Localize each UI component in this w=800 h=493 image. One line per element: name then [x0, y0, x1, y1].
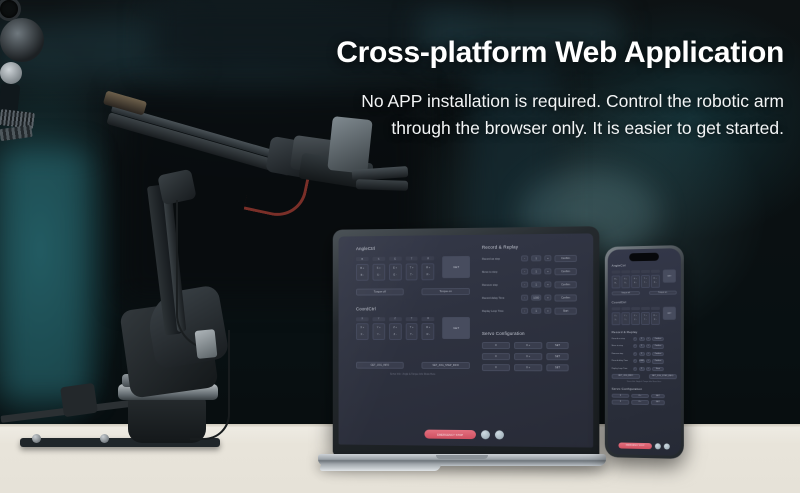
axis-stepper[interactable]: X + X - — [612, 312, 620, 325]
servo-set-button[interactable]: SET — [651, 400, 665, 405]
axis-label — [631, 307, 639, 310]
servo-value-button[interactable]: 0 + — [514, 341, 542, 348]
joint-label: T — [405, 256, 418, 260]
axis-plus-button[interactable]: Z + — [634, 315, 637, 317]
joint-plus-button[interactable]: T + — [410, 266, 414, 270]
jog-button-row: GET_JOG_INFO SET_JOG_STEP_INFO — [356, 362, 470, 369]
joint-minus-button[interactable]: E - — [634, 282, 637, 284]
torque-off-button[interactable]: Torque off — [612, 291, 640, 296]
arm-gripper-jaw — [356, 179, 408, 191]
axis-label: T — [405, 317, 418, 321]
joint-minus-button[interactable]: B - — [361, 273, 364, 277]
increment-button[interactable]: + — [646, 337, 650, 341]
arm-base-bolt — [100, 434, 109, 443]
phone-screen: AngleCtrl B + B - S + S - — [608, 248, 681, 456]
record-replay-row: Record delay Time - 1000 + Confirm — [482, 294, 587, 301]
bottom-action-bar: EMERGENCY STOP — [339, 429, 594, 441]
joint-minus-button[interactable]: B - — [615, 282, 617, 284]
joint-minus-button[interactable]: E - — [393, 273, 396, 277]
phone-bottom-bar: EMERGENCY STOP — [608, 442, 681, 450]
arm-base-bolt — [32, 434, 41, 443]
axis-control[interactable]: X X + X - — [356, 317, 368, 340]
laptop-front-notch — [436, 455, 488, 459]
circle-button-1[interactable] — [481, 430, 490, 439]
servo-config-grid: 0 0 + SET 0 0 + SET 0 0 + SET — [482, 341, 587, 370]
page-subheadline: No APP installation is required. Control… — [300, 88, 784, 141]
left-column: AngleCtrl B B + B - S S + — [356, 245, 470, 376]
row-label: Move to step — [612, 345, 632, 347]
axis-control[interactable]: T T + T - — [405, 317, 418, 340]
arm-sensor-box — [195, 329, 218, 359]
row-label: Remove step — [612, 353, 632, 355]
axis-plus-button[interactable]: R + — [426, 326, 430, 330]
joint-minus-button[interactable]: R - — [654, 282, 657, 284]
laptop-device: AngleCtrl B B + B - S S + — [318, 228, 606, 480]
servo-set-button[interactable]: SET — [546, 341, 568, 348]
axis-minus-button[interactable]: X - — [361, 333, 364, 337]
servo-id-button[interactable]: 0 — [482, 353, 510, 360]
circle-button-2[interactable] — [495, 430, 504, 439]
record-replay-row: Remove step - 1 + Confirm — [482, 281, 587, 288]
coord-ctrl-title: CoordCtrl — [356, 305, 470, 310]
increment-button[interactable]: + — [646, 367, 650, 371]
joint-stepper[interactable]: E + E - — [389, 263, 402, 280]
phone-jog-row: GET_JOG_INFO SET_JOG_STEP_INFO — [612, 374, 677, 379]
joint-stepper[interactable]: B + B - — [356, 263, 368, 280]
increment-button[interactable]: + — [544, 295, 551, 301]
servo-id-button[interactable]: 0 — [612, 400, 630, 405]
increment-button[interactable]: + — [646, 344, 650, 348]
joint-control[interactable]: T + T - — [641, 270, 649, 288]
axis-stepper[interactable]: R + R - — [651, 311, 659, 324]
value-field[interactable]: 1 — [531, 308, 541, 314]
axis-plus-button[interactable]: Y + — [377, 326, 381, 330]
laptop-foot — [319, 464, 442, 471]
joint-control[interactable]: B + B - — [612, 270, 620, 288]
axis-minus-button[interactable]: X - — [615, 319, 617, 321]
joint-label: R — [422, 256, 435, 260]
axis-control[interactable]: R R + R - — [422, 317, 435, 340]
angle-joint-row: B B + B - S S + S - — [356, 256, 470, 280]
row-label: Record delay Time — [612, 360, 632, 362]
circle-button-2[interactable] — [664, 443, 670, 449]
joint-plus-button[interactable]: R + — [426, 266, 430, 270]
phone-record-replay-title: Record & Replay — [612, 329, 677, 333]
servo-info-hint: Servo Info : Angle & Torque Info Show He… — [356, 373, 470, 376]
joint-control[interactable]: S S + S - — [372, 257, 385, 280]
axis-minus-button[interactable]: Y - — [624, 319, 626, 321]
axis-minus-button[interactable]: Z - — [394, 333, 397, 337]
record-replay-row: Move to step - 1 + Confirm — [612, 344, 677, 349]
set-jog-step-info-button[interactable]: SET_JOG_STEP_INFO — [421, 362, 470, 369]
axis-label — [651, 307, 659, 310]
joint-stepper[interactable]: E + E - — [631, 275, 639, 288]
axis-plus-button[interactable]: T + — [644, 315, 647, 317]
joint-label — [651, 270, 659, 273]
axis-stepper[interactable]: X + X - — [356, 323, 368, 340]
record-replay-title: Record & Replay — [482, 244, 587, 250]
emergency-stop-button[interactable]: EMERGENCY STOP — [618, 442, 651, 449]
axis-stepper[interactable]: T + T - — [405, 323, 418, 340]
joint-stepper[interactable]: R + R - — [651, 274, 659, 287]
axis-plus-button[interactable]: Z + — [393, 326, 397, 330]
axis-minus-button[interactable]: Y - — [377, 333, 380, 337]
arm-gripper-pad — [0, 125, 33, 141]
joint-plus-button[interactable]: R + — [654, 278, 657, 280]
increment-button[interactable]: + — [544, 308, 551, 314]
axis-label: Z — [389, 317, 402, 321]
axis-control[interactable]: Z Z + Z - — [389, 317, 402, 340]
joint-control[interactable]: T T + T - — [405, 256, 418, 279]
axis-label — [621, 307, 629, 310]
torque-on-button[interactable]: Torque on — [648, 290, 676, 295]
right-column: Record & Replay Record as step - 1 + Con… — [482, 244, 587, 371]
joint-plus-button[interactable]: E + — [393, 266, 397, 270]
arm-shoulder-hole — [0, 0, 18, 18]
value-field[interactable]: 1 — [639, 367, 645, 371]
servo-id-button[interactable]: 0 — [612, 393, 630, 398]
row-action-button[interactable]: Confirm — [652, 344, 664, 349]
joint-label: B — [356, 257, 368, 261]
laptop-lid: AngleCtrl B B + B - S S + — [333, 226, 600, 458]
axis-stepper[interactable]: Y + Y - — [621, 312, 629, 325]
axis-label: Y — [372, 317, 385, 321]
angle-get-button[interactable]: GET — [442, 256, 470, 278]
joint-plus-button[interactable]: E + — [634, 278, 637, 280]
value-field[interactable]: 1 — [639, 337, 645, 341]
row-action-button[interactable]: Confirm — [554, 268, 576, 275]
servo-config-title: Servo Configuration — [482, 330, 587, 335]
phone-coord-get-button[interactable]: GET — [663, 307, 676, 320]
servo-info-hint: Servo Info : Angle & Torque Info Show He… — [612, 380, 677, 382]
axis-stepper[interactable]: R + R - — [422, 323, 435, 340]
axis-plus-button[interactable]: X + — [614, 315, 617, 317]
axis-plus-button[interactable]: X + — [360, 326, 364, 330]
torque-on-button[interactable]: Torque on — [421, 287, 470, 294]
phone-device: AngleCtrl B + B - S + S - — [605, 245, 684, 459]
record-replay-row: Replay Loop Time - 1 + Start — [482, 308, 587, 315]
joint-control[interactable]: R R + R - — [422, 256, 435, 280]
phone-web-app-ui: AngleCtrl B + B - S + S - — [612, 262, 677, 405]
row-label: Replay Loop Time — [482, 310, 518, 313]
servo-id-button[interactable]: 0 — [482, 341, 510, 348]
record-replay-row: Remove step - 1 + Confirm — [612, 351, 677, 356]
axis-control[interactable]: Z + Z - — [631, 307, 639, 325]
increment-button[interactable]: + — [646, 352, 650, 356]
row-action-button[interactable]: Start — [554, 308, 576, 315]
joint-plus-button[interactable]: B + — [360, 266, 364, 270]
phone-angle-ctrl-title: AngleCtrl — [612, 262, 677, 267]
row-action-button[interactable]: Confirm — [652, 336, 664, 341]
axis-stepper[interactable]: Y + Y - — [372, 323, 385, 340]
row-label: Record as step — [612, 338, 632, 340]
axis-stepper[interactable]: Z + Z - — [631, 312, 639, 325]
increment-button[interactable]: + — [544, 282, 551, 288]
joint-plus-button[interactable]: T + — [644, 278, 647, 280]
decrement-button[interactable]: - — [521, 256, 528, 262]
value-field[interactable]: 1 — [531, 255, 541, 261]
arm-cable — [176, 200, 212, 350]
joint-label: S — [372, 257, 385, 261]
joint-control[interactable]: B B + B - — [356, 257, 368, 280]
joint-plus-button[interactable]: S + — [624, 279, 627, 281]
axis-control[interactable]: R + R - — [651, 307, 659, 325]
phone-torque-row: Torque off Torque on — [612, 290, 677, 295]
record-replay-row: Record as step - 1 + Confirm — [482, 255, 587, 263]
arm-shoulder-disc — [0, 18, 44, 62]
servo-set-button[interactable]: SET — [651, 394, 665, 399]
joint-minus-button[interactable]: T - — [644, 282, 646, 284]
row-action-button[interactable]: Confirm — [554, 294, 576, 301]
joint-minus-button[interactable]: S - — [377, 273, 380, 277]
row-action-button[interactable]: Start — [652, 367, 664, 372]
increment-button[interactable]: + — [646, 359, 650, 363]
axis-minus-button[interactable]: R - — [654, 319, 657, 321]
axis-plus-button[interactable]: Y + — [624, 315, 627, 317]
axis-minus-button[interactable]: T - — [644, 319, 646, 321]
dynamic-island-icon — [629, 253, 659, 262]
web-app-ui: AngleCtrl B B + B - S S + — [339, 233, 594, 447]
angle-ctrl-title: AngleCtrl — [356, 245, 470, 251]
row-label: Move to step — [482, 270, 518, 273]
phone-coord-axis-row: X + X - Y + Y - Z + Z - — [612, 307, 677, 325]
phone-coord-ctrl-title: CoordCtrl — [612, 300, 677, 305]
coord-axis-row: X X + X - Y Y + Y - — [356, 316, 470, 340]
joint-minus-button[interactable]: S - — [624, 282, 627, 284]
axis-control[interactable]: X + X - — [612, 307, 620, 324]
increment-button[interactable]: + — [544, 255, 551, 261]
row-label: Replay Loop Time — [612, 368, 632, 370]
page-headline: Cross-platform Web Application — [300, 36, 784, 70]
increment-button[interactable]: + — [544, 269, 551, 275]
value-field[interactable]: 1 — [639, 344, 645, 348]
axis-plus-button[interactable]: T + — [410, 326, 414, 330]
row-label: Record as step — [482, 257, 518, 260]
axis-control[interactable]: T + T - — [641, 307, 649, 325]
axis-label — [612, 307, 620, 310]
row-action-button[interactable]: Confirm — [652, 359, 664, 364]
phone-angle-joint-row: B + B - S + S - E + E - — [612, 269, 677, 288]
get-jog-info-button[interactable]: GET_JOG_INFO — [612, 374, 640, 379]
row-action-button[interactable]: Confirm — [652, 351, 664, 356]
decrement-button[interactable]: - — [521, 295, 528, 301]
axis-minus-button[interactable]: R - — [426, 333, 429, 337]
joint-label — [612, 270, 620, 273]
value-field[interactable]: 1 — [639, 352, 645, 356]
joint-stepper[interactable]: T + T - — [641, 274, 649, 287]
joint-control[interactable]: E + E - — [631, 270, 639, 288]
decrement-button[interactable]: - — [633, 344, 637, 348]
decrement-button[interactable]: - — [633, 352, 637, 356]
joint-stepper[interactable]: T + T - — [405, 263, 418, 280]
axis-label — [641, 307, 649, 310]
decrement-button[interactable]: - — [633, 359, 637, 363]
axis-plus-button[interactable]: R + — [654, 315, 657, 317]
phone-servo-config-title: Servo Configuration — [612, 386, 677, 391]
joint-minus-button[interactable]: R - — [426, 273, 429, 277]
axis-minus-button[interactable]: Z - — [634, 319, 636, 321]
arm-base-clamp — [60, 383, 98, 417]
servo-config-grid: 0 0 + SET 0 0 + SET — [612, 393, 677, 405]
joint-control[interactable]: R + R - — [651, 270, 659, 288]
decrement-button[interactable]: - — [633, 367, 637, 371]
servo-set-button[interactable]: SET — [546, 353, 568, 360]
torque-button-row: Torque off Torque on — [356, 287, 470, 295]
coord-get-button[interactable]: GET — [442, 316, 470, 338]
arm-shoulder-hub — [0, 62, 22, 84]
joint-label — [631, 270, 639, 273]
value-field[interactable]: 1 — [531, 269, 541, 275]
row-label: Remove step — [482, 283, 518, 286]
joint-stepper[interactable]: B + B - — [612, 275, 620, 288]
servo-set-button[interactable]: SET — [546, 364, 568, 371]
joint-minus-button[interactable]: T - — [410, 273, 413, 277]
joint-label — [641, 270, 649, 273]
axis-stepper[interactable]: T + T - — [641, 311, 649, 324]
value-field[interactable]: 1000 — [531, 295, 541, 301]
circle-button-1[interactable] — [655, 443, 661, 449]
value-field[interactable]: 1000 — [639, 359, 645, 363]
decrement-button[interactable]: - — [521, 308, 528, 314]
servo-value-button[interactable]: 0 + — [514, 364, 542, 371]
servo-id-button[interactable]: 0 — [482, 364, 510, 371]
decrement-button[interactable]: - — [521, 282, 528, 288]
get-jog-info-button[interactable]: GET_JOG_INFO — [356, 362, 404, 369]
phone-angle-get-button[interactable]: GET — [663, 269, 676, 282]
axis-label: R — [422, 317, 435, 321]
record-replay-row: Move to step - 1 + Confirm — [482, 268, 587, 275]
row-label: Record delay Time — [482, 296, 518, 299]
joint-control[interactable]: S + S - — [621, 270, 629, 288]
record-replay-row: Record as step - 1 + Confirm — [612, 336, 677, 341]
decrement-button[interactable]: - — [521, 269, 528, 275]
joint-plus-button[interactable]: B + — [614, 279, 617, 281]
axis-control[interactable]: Y + Y - — [621, 307, 629, 324]
decrement-button[interactable]: - — [633, 337, 637, 341]
joint-control[interactable]: E E + E - — [389, 257, 402, 280]
joint-label: E — [389, 257, 402, 261]
set-jog-step-info-button[interactable]: SET_JOG_STEP_INFO — [648, 374, 676, 379]
joint-stepper[interactable]: S + S - — [372, 263, 385, 280]
axis-control[interactable]: Y Y + Y - — [372, 317, 385, 340]
servo-value-button[interactable]: 0 + — [631, 400, 649, 405]
record-replay-row: Replay Loop Time - 1 + Start — [612, 366, 677, 371]
axis-label: X — [356, 317, 368, 321]
row-action-button[interactable]: Confirm — [554, 281, 576, 288]
joint-stepper[interactable]: S + S - — [621, 275, 629, 288]
servo-value-button[interactable]: 0 + — [514, 353, 542, 360]
axis-stepper[interactable]: Z + Z - — [389, 323, 402, 340]
arm-gripper-slot — [0, 83, 20, 112]
torque-off-button[interactable]: Torque off — [356, 288, 404, 295]
record-replay-row: Record delay Time - 1000 + Confirm — [612, 359, 677, 364]
laptop-screen: AngleCtrl B B + B - S S + — [339, 233, 594, 447]
joint-stepper[interactable]: R + R - — [422, 263, 435, 280]
row-action-button[interactable]: Confirm — [554, 255, 576, 262]
joint-label — [621, 270, 629, 273]
servo-value-button[interactable]: 0 + — [631, 393, 649, 398]
joint-plus-button[interactable]: S + — [377, 266, 381, 270]
axis-minus-button[interactable]: T - — [410, 333, 413, 337]
value-field[interactable]: 1 — [531, 282, 541, 288]
emergency-stop-button[interactable]: EMERGENCY STOP — [424, 430, 476, 440]
